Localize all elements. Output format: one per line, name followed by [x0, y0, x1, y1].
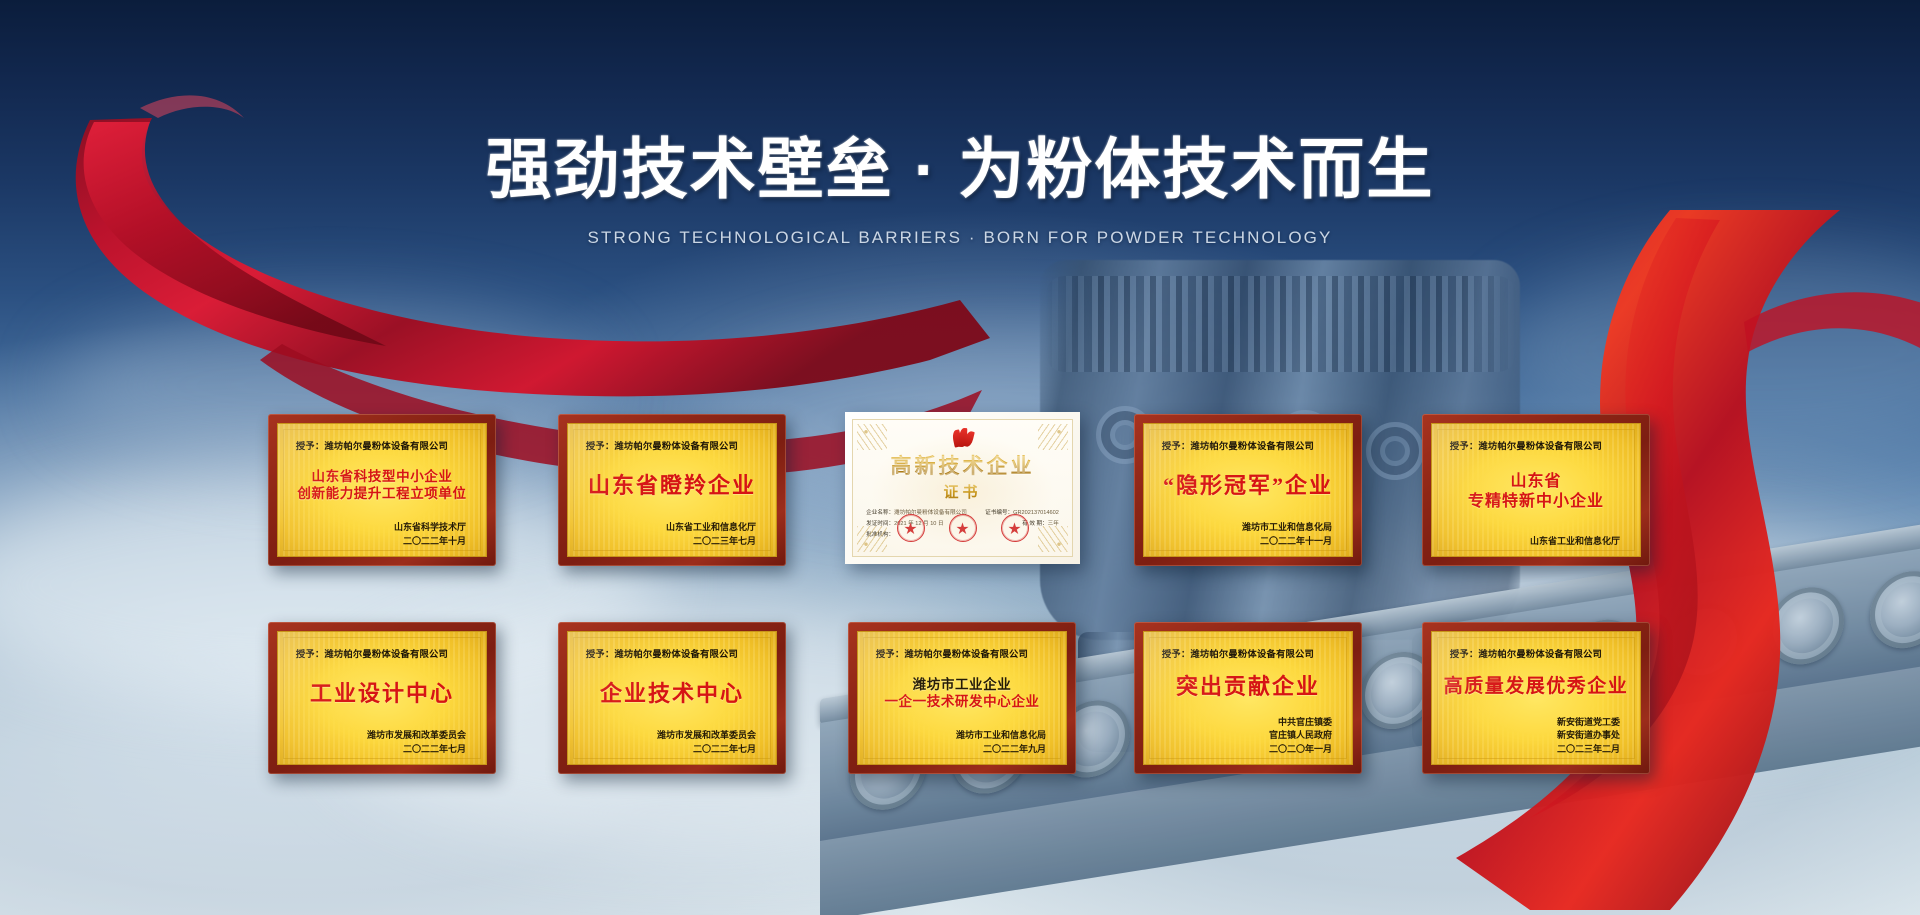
plaque-award-title: 企业技术中心 [580, 658, 764, 729]
plaque-issuer-line: 二〇二〇年一月 [1156, 743, 1332, 757]
certificate-title: 高新技术企业 [891, 450, 1035, 480]
plaque-issuer-line: 二〇二二年九月 [870, 743, 1046, 757]
plaque-issuer-block: 潍坊市工业和信息化局二〇二二年十一月 [1156, 521, 1340, 548]
plaque-face: 授予：潍坊帕尔曼粉体设备有限公司企业技术中心潍坊市发展和改革委员会二〇二二年七月 [567, 631, 777, 765]
certificate-frame: 高新技术企业证书企业名称：潍坊帕尔曼粉体设备有限公司证书编号：GR2021370… [852, 419, 1073, 557]
high-tech-enterprise-certificate: 高新技术企业证书企业名称：潍坊帕尔曼粉体设备有限公司证书编号：GR2021370… [845, 412, 1080, 564]
official-seal-icon: ★ [1001, 514, 1029, 542]
plaque-face: 授予：潍坊帕尔曼粉体设备有限公司山东省专精特新中小企业山东省工业和信息化厅 [1431, 423, 1641, 557]
plaque-issuer-block: 潍坊市发展和改革委员会二〇二二年七月 [290, 729, 474, 756]
plaque-issuer-block: 山东省科学技术厅二〇二二年十月 [290, 521, 474, 548]
plaque-issuer-line: 潍坊市发展和改革委员会 [290, 729, 466, 743]
plaque-face: 授予：潍坊帕尔曼粉体设备有限公司“隐形冠军”企业潍坊市工业和信息化局二〇二二年十… [1143, 423, 1353, 557]
honor-plaque-grid: 授予：潍坊帕尔曼粉体设备有限公司山东省科技型中小企业创新能力提升工程立项单位山东… [0, 0, 1920, 915]
plaque-issuer-line: 潍坊市工业和信息化局 [870, 729, 1046, 743]
plaque-award-line: 突出贡献企业 [1176, 674, 1320, 700]
plaque-award-line: 山东省 [1510, 473, 1561, 492]
plaque-issuer-line: 山东省工业和信息化厅 [1444, 535, 1620, 549]
plaque-issuer-line: 潍坊市发展和改革委员会 [580, 729, 756, 743]
honor-plaque-shandong-gazelle-enterprise: 授予：潍坊帕尔曼粉体设备有限公司山东省瞪羚企业山东省工业和信息化厅二〇二三年七月 [558, 414, 786, 566]
plaque-issuer-block: 新安街道党工委新安街道办事处二〇二三年二月 [1444, 716, 1628, 757]
honor-plaque-enterprise-technology-center: 授予：潍坊帕尔曼粉体设备有限公司企业技术中心潍坊市发展和改革委员会二〇二二年七月 [558, 622, 786, 774]
certificate-corner-ornament [857, 424, 887, 450]
plaque-award-title: 山东省瞪羚企业 [580, 450, 764, 521]
plaque-issuer-line: 二〇二二年七月 [580, 743, 756, 757]
plaque-issuer-line: 二〇二三年七月 [580, 535, 756, 549]
plaque-award-title: 山东省专精特新中小企业 [1444, 450, 1628, 535]
plaque-face: 授予：潍坊帕尔曼粉体设备有限公司山东省瞪羚企业山东省工业和信息化厅二〇二三年七月 [567, 423, 777, 557]
plaque-issuer-block: 潍坊市工业和信息化局二〇二二年九月 [870, 729, 1054, 756]
honor-plaque-high-quality-development-enterprise: 授予：潍坊帕尔曼粉体设备有限公司高质量发展优秀企业新安街道党工委新安街道办事处二… [1422, 622, 1650, 774]
certificate-seal-row: ★★★ [853, 514, 1072, 542]
plaque-award-title: 高质量发展优秀企业 [1444, 658, 1628, 716]
plaque-award-line: 潍坊市工业企业 [913, 677, 1012, 693]
plaque-award-line: “隐形冠军”企业 [1163, 473, 1333, 499]
plaque-award-title: 山东省科技型中小企业创新能力提升工程立项单位 [290, 450, 474, 521]
flame-emblem-icon [952, 428, 974, 448]
honor-plaque-hidden-champion-enterprise: 授予：潍坊帕尔曼粉体设备有限公司“隐形冠军”企业潍坊市工业和信息化局二〇二二年十… [1134, 414, 1362, 566]
honor-plaque-outstanding-contribution-enterprise: 授予：潍坊帕尔曼粉体设备有限公司突出贡献企业中共官庄镇委官庄镇人民政府二〇二〇年… [1134, 622, 1362, 774]
plaque-issuer-block: 山东省工业和信息化厅 [1444, 535, 1628, 549]
honor-plaque-shandong-sci-tech-sme: 授予：潍坊帕尔曼粉体设备有限公司山东省科技型中小企业创新能力提升工程立项单位山东… [268, 414, 496, 566]
plaque-award-title: “隐形冠军”企业 [1156, 450, 1340, 521]
plaque-award-line: 创新能力提升工程立项单位 [297, 486, 466, 502]
plaque-issuer-line: 山东省工业和信息化厅 [580, 521, 756, 535]
plaque-issuer-block: 山东省工业和信息化厅二〇二三年七月 [580, 521, 764, 548]
honor-plaque-industrial-design-center: 授予：潍坊帕尔曼粉体设备有限公司工业设计中心潍坊市发展和改革委员会二〇二二年七月 [268, 622, 496, 774]
banner-stage: 强劲技术壁垒 · 为粉体技术而生 STRONG TECHNOLOGICAL BA… [0, 0, 1920, 915]
plaque-award-line: 高质量发展优秀企业 [1444, 676, 1629, 698]
plaque-face: 授予：潍坊帕尔曼粉体设备有限公司工业设计中心潍坊市发展和改革委员会二〇二二年七月 [277, 631, 487, 765]
plaque-face: 授予：潍坊帕尔曼粉体设备有限公司潍坊市工业企业一企一技术研发中心企业潍坊市工业和… [857, 631, 1067, 765]
plaque-award-title: 潍坊市工业企业一企一技术研发中心企业 [870, 658, 1054, 729]
plaque-issuer-line: 中共官庄镇委 [1156, 716, 1332, 730]
certificate-subtitle: 证书 [943, 481, 981, 502]
plaque-issuer-line: 官庄镇人民政府 [1156, 729, 1332, 743]
plaque-issuer-line: 新安街道党工委 [1444, 716, 1620, 730]
plaque-award-line: 企业技术中心 [600, 681, 744, 707]
plaque-issuer-line: 山东省科学技术厅 [290, 521, 466, 535]
plaque-issuer-block: 潍坊市发展和改革委员会二〇二二年七月 [580, 729, 764, 756]
plaque-issuer-line: 新安街道办事处 [1444, 729, 1620, 743]
plaque-issuer-line: 潍坊市工业和信息化局 [1156, 521, 1332, 535]
plaque-award-title: 工业设计中心 [290, 658, 474, 729]
plaque-face: 授予：潍坊帕尔曼粉体设备有限公司高质量发展优秀企业新安街道党工委新安街道办事处二… [1431, 631, 1641, 765]
plaque-issuer-line: 二〇二三年二月 [1444, 743, 1620, 757]
plaque-award-line: 工业设计中心 [310, 681, 454, 707]
plaque-issuer-line: 二〇二二年七月 [290, 743, 466, 757]
plaque-issuer-block: 中共官庄镇委官庄镇人民政府二〇二〇年一月 [1156, 716, 1340, 757]
plaque-issuer-line: 二〇二二年十一月 [1156, 535, 1332, 549]
plaque-face: 授予：潍坊帕尔曼粉体设备有限公司山东省科技型中小企业创新能力提升工程立项单位山东… [277, 423, 487, 557]
plaque-award-title: 突出贡献企业 [1156, 658, 1340, 716]
plaque-face: 授予：潍坊帕尔曼粉体设备有限公司突出贡献企业中共官庄镇委官庄镇人民政府二〇二〇年… [1143, 631, 1353, 765]
honor-plaque-shandong-specialized-sme: 授予：潍坊帕尔曼粉体设备有限公司山东省专精特新中小企业山东省工业和信息化厅 [1422, 414, 1650, 566]
plaque-award-line: 山东省瞪羚企业 [588, 473, 756, 499]
official-seal-icon: ★ [949, 514, 977, 542]
official-seal-icon: ★ [897, 514, 925, 542]
plaque-issuer-line: 二〇二二年十月 [290, 535, 466, 549]
plaque-award-line: 山东省科技型中小企业 [312, 469, 453, 485]
certificate-corner-ornament [1038, 424, 1068, 450]
plaque-award-line: 专精特新中小企业 [1468, 493, 1604, 512]
honor-plaque-weifang-industrial-rd-center: 授予：潍坊帕尔曼粉体设备有限公司潍坊市工业企业一企一技术研发中心企业潍坊市工业和… [848, 622, 1076, 774]
plaque-award-line: 一企一技术研发中心企业 [884, 694, 1039, 710]
